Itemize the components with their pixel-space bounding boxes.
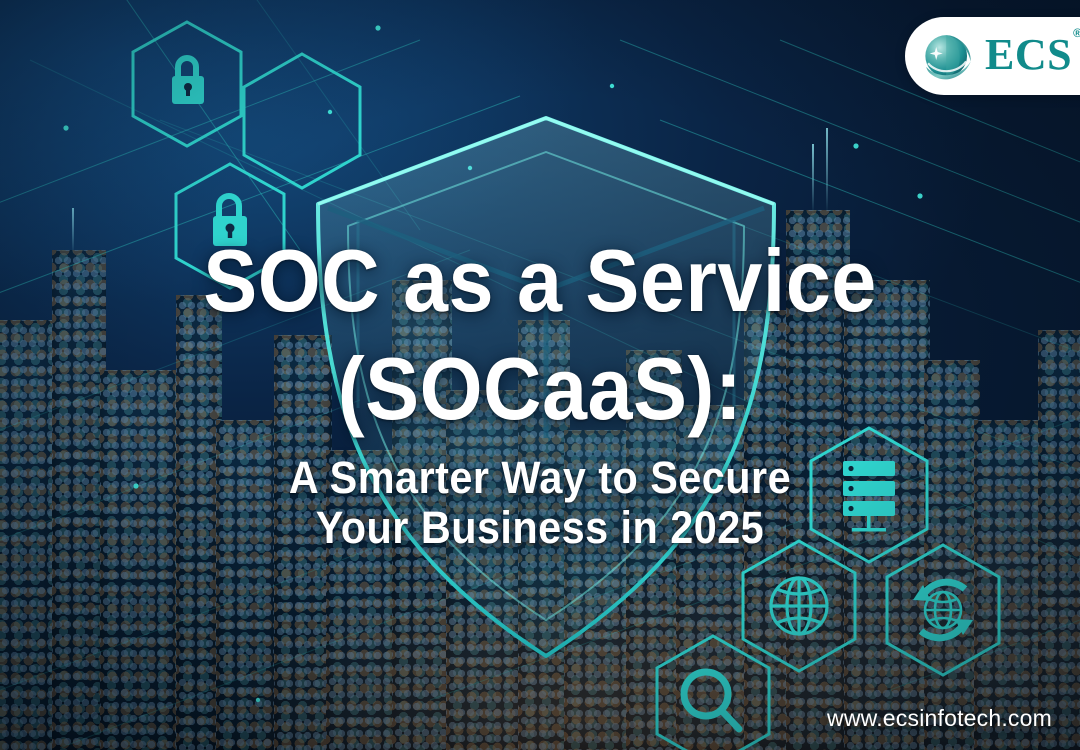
website-url[interactable]: www.ecsinfotech.com [827, 705, 1052, 732]
page-title-line-1: SOC as a Service [43, 237, 1037, 325]
brand-label: ECS [985, 30, 1072, 79]
page-subtitle-line-2: Your Business in 2025 [43, 505, 1037, 550]
registered-mark: ® [1073, 26, 1080, 40]
ecs-brand-text: ECS® [985, 33, 1080, 77]
page-title-line-2: (SOCaaS): [43, 345, 1037, 433]
page-subtitle-line-1: A Smarter Way to Secure [43, 455, 1037, 500]
socaas-banner: SOC as a Service (SOCaaS): A Smarter Way… [0, 0, 1080, 750]
globe-swoosh-icon [919, 27, 977, 85]
ecs-logo-badge[interactable]: ECS® [905, 17, 1080, 95]
